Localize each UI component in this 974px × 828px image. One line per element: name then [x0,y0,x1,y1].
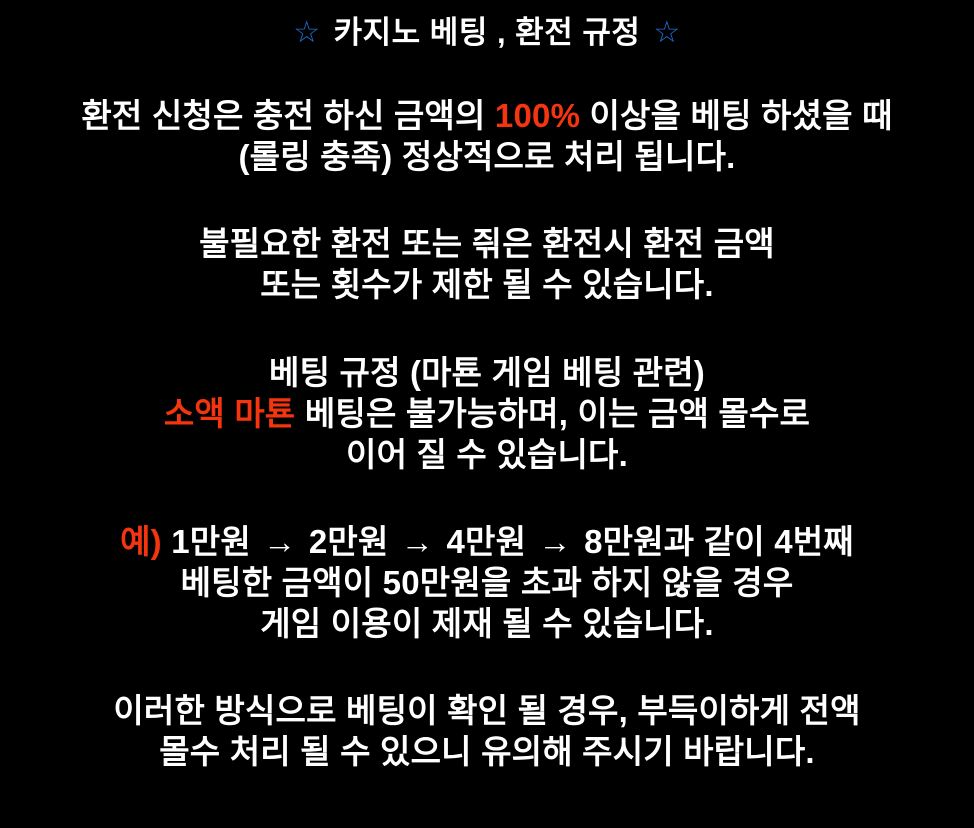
text-segment: 베팅한 금액이 50만원을 초과 하지 않을 경우 [181,564,794,601]
text-segment: 게임 이용이 제재 될 수 있습니다. [260,605,714,642]
text-line: 이어 질 수 있습니다. [0,434,974,475]
text-segment: 8만원과 같이 4번째 [575,523,854,560]
text-line: 이러한 방식으로 베팅이 확인 될 경우, 부득이하게 전액 [0,690,974,731]
text-line: 베팅 규정 (마툔 게임 베팅 관련) [0,352,974,393]
notice-body: 환전 신청은 충전 하신 금액의 100% 이상을 베팅 하셨을 때 (롤링 충… [0,95,974,772]
accent-segment-small-martin: 소액 마툔 [164,395,296,432]
star-icon-right: ☆ [653,11,680,55]
text-line: 소액 마툔 베팅은 불가능하며, 이는 금액 몰수로 [0,393,974,434]
arrow-right-icon: → [536,523,575,560]
paragraph-refund-rolling-rule: 환전 신청은 충전 하신 금액의 100% 이상을 베팅 하셨을 때 (롤링 충… [0,95,974,177]
text-segment: 몰수 처리 될 수 있으니 유의해 주시기 바랍니다. [159,733,815,770]
text-segment: 1만원 [162,523,260,560]
text-line: 몰수 처리 될 수 있으니 유의해 주시기 바랍니다. [0,731,974,772]
text-segment: 이어 질 수 있습니다. [346,436,628,473]
text-segment: 환전 신청은 충전 하신 금액의 [81,97,495,134]
notice-page: ☆카지노 베팅 , 환전 규정☆ 환전 신청은 충전 하신 금액의 100% 이… [0,0,974,828]
accent-segment-example-label: 예) [120,523,162,560]
accent-segment-percent: 100% [495,97,580,134]
text-line: 불필요한 환전 또는 즦은 환전시 환전 금액 [0,223,974,264]
text-segment: 또는 횟수가 제한 될 수 있습니다. [260,266,714,303]
text-segment: 베팅 규정 (마툔 게임 베팅 관련) [269,354,705,391]
text-line: 또는 횟수가 제한 될 수 있습니다. [0,264,974,305]
paragraph-frequent-refund-limit: 불필요한 환전 또는 즦은 환전시 환전 금액 또는 횟수가 제한 될 수 있습… [0,223,974,305]
paragraph-martingale-example: 예) 1만원 → 2만원 → 4만원 → 8만원과 같이 4번째 베팅한 금액이… [0,521,974,644]
text-segment: (롤링 충족) 정상적으로 처리 됩니다. [238,138,735,175]
text-segment: 이러한 방식으로 베팅이 확인 될 경우, 부득이하게 전액 [113,692,860,729]
page-title: ☆카지노 베팅 , 환전 규정☆ [0,9,974,55]
text-segment: 베팅은 불가능하며, 이는 금액 몰수로 [295,395,810,432]
page-title-text: 카지노 베팅 , 환전 규정 [321,11,654,55]
text-line: 예) 1만원 → 2만원 → 4만원 → 8만원과 같이 4번째 [0,521,974,562]
arrow-right-icon: → [398,523,437,560]
text-segment: 이상을 베팅 하셨을 때 [580,97,893,134]
text-line: 환전 신청은 충전 하신 금액의 100% 이상을 베팅 하셨을 때 [0,95,974,136]
text-segment: 2만원 [299,523,397,560]
text-line: 게임 이용이 제재 될 수 있습니다. [0,603,974,644]
paragraph-martingale-betting-rule: 베팅 규정 (마툔 게임 베팅 관련) 소액 마툔 베팅은 불가능하며, 이는 … [0,352,974,475]
text-line: (롤링 충족) 정상적으로 처리 됩니다. [0,136,974,177]
text-segment: 불필요한 환전 또는 즦은 환전시 환전 금액 [199,225,775,262]
arrow-right-icon: → [260,523,299,560]
paragraph-forfeiture-warning: 이러한 방식으로 베팅이 확인 될 경우, 부득이하게 전액 몰수 처리 될 수… [0,690,974,772]
text-line: 베팅한 금액이 50만원을 초과 하지 않을 경우 [0,562,974,603]
text-segment: 4만원 [437,523,535,560]
star-icon-left: ☆ [293,11,320,55]
